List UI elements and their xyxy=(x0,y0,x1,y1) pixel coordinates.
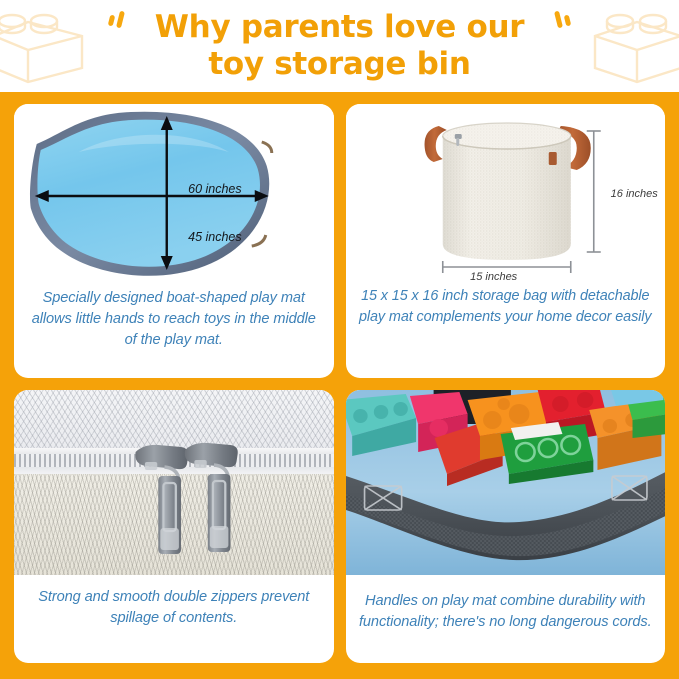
page-title-line-2: toy storage bin xyxy=(208,46,470,83)
caption-play-mat-text: Specially designed boat-shaped play mat … xyxy=(26,288,322,351)
page-title-line-1: Why parents love our xyxy=(129,9,550,46)
quote-slash-right-icon xyxy=(548,11,574,37)
feature-card-grid: 60 inches 45 inches Specially designed b… xyxy=(0,92,679,679)
feature-card-play-mat: 60 inches 45 inches Specially designed b… xyxy=(14,104,334,378)
mat-handle-image xyxy=(346,390,666,575)
caption-mat-handles: Handles on play mat combine durability w… xyxy=(346,575,666,664)
dimension-label-width: 60 inches xyxy=(188,182,242,196)
quote-slash-left-icon xyxy=(105,11,131,37)
double-zipper-image xyxy=(14,390,334,575)
boat-shaped-play-mat-illustration xyxy=(14,104,334,282)
play-mat-image: 60 inches 45 inches xyxy=(14,104,334,282)
dimension-label-bag-width: 15 inches xyxy=(470,271,517,282)
feature-card-double-zippers: Strong and smooth double zippers prevent… xyxy=(14,390,334,664)
mat-handle-loop-top xyxy=(262,142,272,153)
toy-bricks-and-handle-illustration xyxy=(346,390,666,575)
caption-play-mat: Specially designed boat-shaped play mat … xyxy=(14,282,334,378)
caption-double-zippers-text: Strong and smooth double zippers prevent… xyxy=(26,587,322,629)
bag-brand-tag xyxy=(548,152,556,165)
infographic-root: Why parents love our toy storage bin xyxy=(0,0,679,679)
storage-bag-image: 16 inches 15 inches xyxy=(346,104,666,282)
zipper-slider-left xyxy=(135,444,188,553)
caption-storage-bag-text: 15 x 15 x 16 inch storage bag with detac… xyxy=(358,286,654,328)
dimension-label-height: 45 inches xyxy=(188,230,242,244)
feature-card-storage-bag: 16 inches 15 inches 15 x 15 x 16 inch st… xyxy=(346,104,666,378)
dimension-label-bag-height: 16 inches xyxy=(611,188,658,200)
caption-storage-bag: 15 x 15 x 16 inch storage bag with detac… xyxy=(346,282,666,378)
header-banner: Why parents love our toy storage bin xyxy=(0,0,679,92)
feature-card-mat-handles: Handles on play mat combine durability w… xyxy=(346,390,666,664)
toy-brick-teal xyxy=(346,394,416,456)
mat-handle-loop-bottom xyxy=(252,235,266,246)
caption-mat-handles-text: Handles on play mat combine durability w… xyxy=(358,591,654,633)
caption-double-zippers: Strong and smooth double zippers prevent… xyxy=(14,575,334,664)
zipper-slider-right xyxy=(185,442,238,551)
zipper-pulls-illustration xyxy=(14,390,334,575)
page-title-line-1-text: Why parents love our xyxy=(155,9,524,45)
